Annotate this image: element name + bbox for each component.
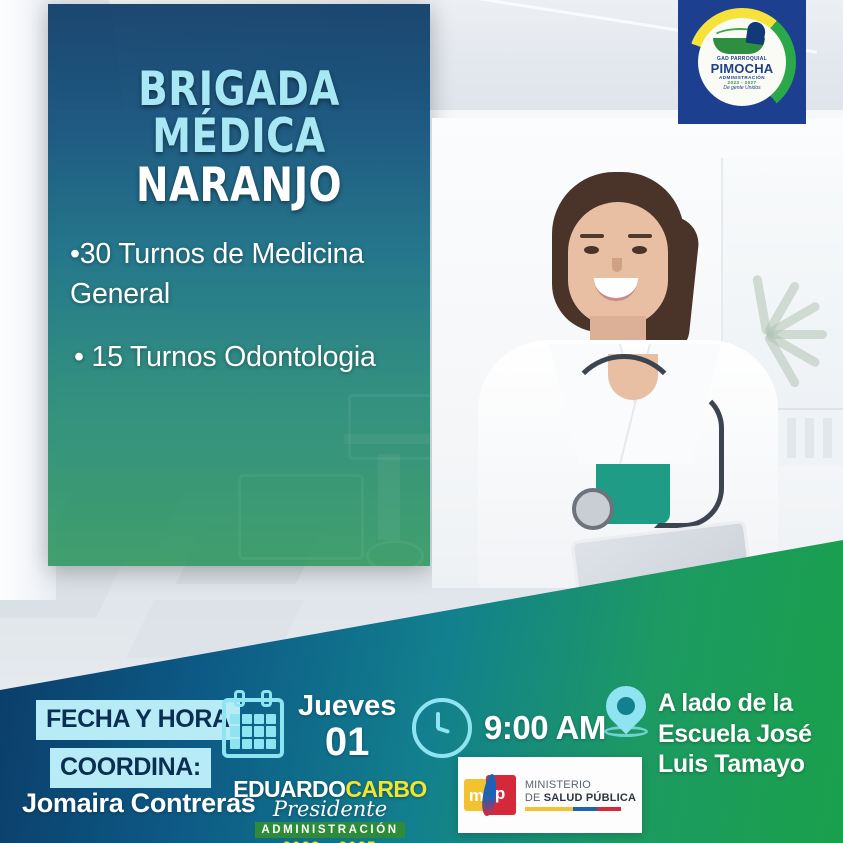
msp-mark-icon: m p — [464, 775, 516, 815]
ecuador-flag-bar — [525, 807, 621, 811]
card-title-line1: BRIGADA MÉDICA — [84, 66, 395, 160]
event-time: 9:00 AM — [484, 709, 606, 747]
candidate-role: Presidente — [232, 799, 428, 820]
card-title-line2: NARANJO — [84, 160, 395, 212]
eduardo-carbo-logo: EDUARDOCARBO Presidente ADMINISTRACIÓN 2… — [232, 778, 428, 843]
info-card: BRIGADA MÉDICA NARANJO •30 Turnos de Med… — [48, 4, 430, 566]
msp-line-2-prefix: DE — [525, 792, 544, 804]
ministerio-salud-publica-logo: m p MINISTERIO DE SALUD PÚBLICA — [458, 757, 642, 833]
coordinator-name: Jomaira Contreras — [22, 788, 256, 819]
msp-text: MINISTERIO DE SALUD PÚBLICA — [525, 779, 636, 812]
doctor-photo — [432, 118, 843, 588]
gad-tagline: De gente Unidos — [723, 85, 760, 91]
list-item: •30 Turnos de Medicina General — [70, 234, 408, 315]
list-item: • 15 Turnos Odontologia — [70, 337, 408, 377]
logo-inner: GAD PARROQUIAL PIMOCHA ADMINISTRACIÓN 20… — [698, 18, 786, 106]
msp-line-2: DE SALUD PÚBLICA — [525, 792, 636, 805]
administration-years: 2023 - 2027 — [232, 839, 428, 843]
date-block: Jueves 01 — [222, 692, 396, 763]
msp-letter-p: p — [495, 785, 505, 802]
calendar-icon — [222, 698, 284, 758]
coordina-badge-row: COORDINA: — [50, 748, 211, 788]
poster-root: BRIGADA MÉDICA NARANJO •30 Turnos de Med… — [0, 0, 843, 843]
location-line-3: Luis Tamayo — [658, 749, 812, 780]
coordinator-name-row: Jomaira Contreras — [22, 788, 256, 819]
day-name: Jueves — [298, 692, 396, 721]
map-pin-icon — [604, 686, 648, 742]
coordina-badge: COORDINA: — [50, 748, 211, 788]
location-line-2: Escuela José — [658, 719, 812, 750]
doctor-figure — [468, 158, 798, 588]
administration-label: ADMINISTRACIÓN — [255, 822, 404, 838]
msp-line-1: MINISTERIO — [525, 779, 636, 792]
date-time-badge: FECHA Y HORA — [36, 700, 240, 740]
day-number: 01 — [298, 721, 396, 763]
msp-line-2-bold: SALUD PÚBLICA — [544, 792, 636, 804]
gad-line2: PIMOCHA — [711, 62, 774, 75]
date-badge-row: FECHA Y HORA — [36, 700, 240, 740]
gad-parroquial-pimocha-logo: GAD PARROQUIAL PIMOCHA ADMINISTRACIÓN 20… — [678, 0, 806, 124]
time-block: 9:00 AM — [412, 698, 606, 758]
location-line-1: A lado de la — [658, 688, 812, 719]
logo-ring: GAD PARROQUIAL PIMOCHA ADMINISTRACIÓN 20… — [688, 8, 796, 116]
horse-field-icon — [711, 24, 773, 56]
services-list: •30 Turnos de Medicina General • 15 Turn… — [70, 234, 408, 377]
clock-icon — [412, 698, 472, 758]
